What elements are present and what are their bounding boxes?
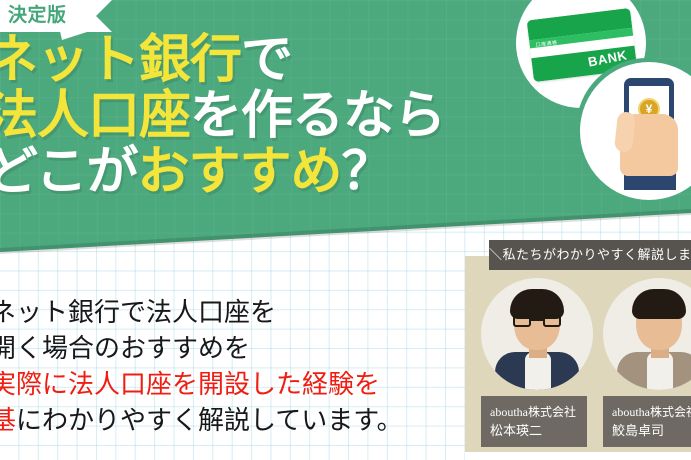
presenter-name-2: 鮫島卓司 — [612, 421, 691, 440]
headline-line-2-yellow: 法人口座 — [0, 87, 190, 145]
avatar — [603, 278, 691, 390]
description-copy: ネット銀行で法人口座を 開く場合のおすすめを 実際に法人口座を開設した経験を 基… — [0, 294, 460, 438]
headline-question-mark: ？ — [341, 143, 392, 201]
headline: ネット銀行で 法人口座を作るなら どこがおすすめ？ — [0, 32, 546, 200]
headline-line-1-yellow: ネット銀行 — [0, 31, 241, 89]
description-line-4: 基にわかりやすく解説しています。 — [0, 402, 460, 438]
badge-label: 決定版 — [8, 4, 67, 28]
description-line-4-red: 基 — [0, 405, 16, 435]
glasses-right-lens — [543, 314, 561, 327]
presenter-ribbon-label: ＼私たちがわかりやすく解説します／ — [489, 240, 691, 270]
glasses-bridge — [531, 319, 543, 321]
presenter-company-1: aboutha株式会社 — [490, 403, 578, 421]
headline-line-2: 法人口座を作るなら — [0, 88, 546, 144]
headline-line-3: どこがおすすめ？ — [0, 144, 546, 200]
glasses-left-lens — [513, 314, 531, 327]
presenter-name-card-2: aboutha株式会社 鮫島卓司 — [603, 396, 691, 447]
presenter-company-2: aboutha株式会社 — [612, 403, 691, 421]
description-line-3: 実際に法人口座を開設した経験を — [0, 366, 460, 402]
headline-line-2-white: を作るなら — [190, 87, 445, 145]
avatar-hair — [632, 289, 686, 319]
description-line-2: 開く場合のおすすめを — [0, 330, 460, 366]
presenter-avatar-2 — [603, 278, 691, 390]
headline-line-1: ネット銀行で — [0, 32, 546, 88]
presenter-name-1: 松本瑛二 — [490, 421, 578, 440]
headline-line-1-white: で — [241, 31, 292, 89]
headline-line-3-white: どこが — [0, 143, 137, 201]
description-line-4-rest: にわかりやすく解説しています。 — [16, 405, 403, 435]
avatar — [481, 278, 593, 390]
presenter-avatar-1 — [481, 278, 593, 390]
presenter-panel-footer — [465, 452, 691, 460]
glasses-icon — [513, 314, 561, 327]
description-line-1: ネット銀行で法人口座を — [0, 294, 460, 330]
promo-banner: 決定版 ネット銀行で 法人口座を作るなら どこがおすすめ？ 口座通帳 BANK … — [0, 0, 691, 460]
passbook-label: 口座通帳 — [535, 39, 558, 49]
presenter-name-card-1: aboutha株式会社 松本瑛二 — [481, 396, 587, 447]
headline-line-3-yellow: おすすめ — [137, 143, 341, 201]
